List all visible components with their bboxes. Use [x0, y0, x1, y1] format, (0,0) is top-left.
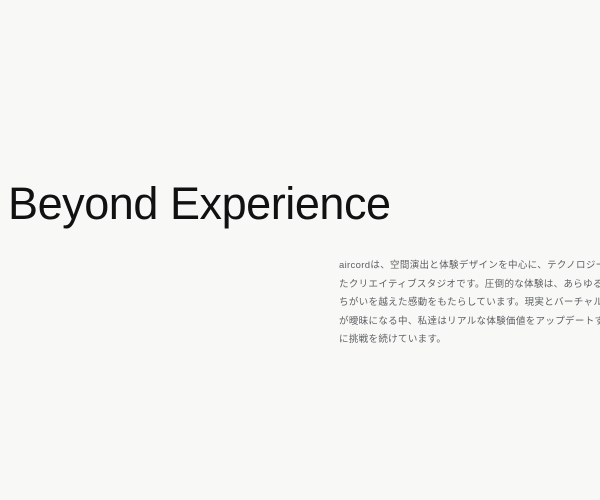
intro-paragraph: aircordは、空間演出と体験デザインを中心に、テクノロジーを用いたクリエイテ… [339, 257, 600, 350]
page-root: Beyond Experience aircordは、空間演出と体験デザインを中… [0, 0, 600, 500]
page-title: Beyond Experience [8, 178, 391, 230]
